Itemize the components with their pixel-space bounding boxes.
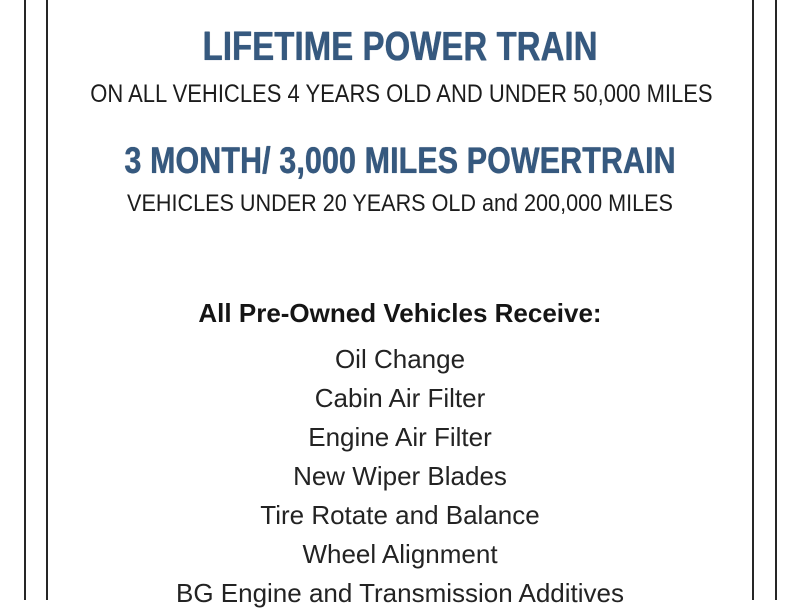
border-rule-right-outer [775,0,777,600]
border-rule-right-inner [752,0,754,600]
list-item: BG Engine and Transmission Additives [48,574,752,613]
list-item: Engine Air Filter [48,418,752,457]
list-item: Oil Change [48,340,752,379]
services-heading: All Pre-Owned Vehicles Receive: [48,300,752,326]
list-item: Cabin Air Filter [48,379,752,418]
border-rule-left-outer [24,0,26,600]
three-month-powertrain-subline: VEHICLES UNDER 20 YEARS OLD and 200,000 … [83,192,717,216]
lifetime-powertrain-subline: ON ALL VEHICLES 4 YEARS OLD AND UNDER 50… [90,82,710,107]
services-section: All Pre-Owned Vehicles Receive: Oil Chan… [48,300,752,613]
three-month-powertrain-headline: 3 MONTH/ 3,000 MILES POWERTRAIN [111,142,688,179]
services-list: Oil Change Cabin Air Filter Engine Air F… [48,340,752,613]
flyer-page: LIFETIME POWER TRAIN ON ALL VEHICLES 4 Y… [0,0,800,600]
lifetime-powertrain-headline: LIFETIME POWER TRAIN [118,26,681,67]
list-item: New Wiper Blades [48,457,752,496]
flyer-content: LIFETIME POWER TRAIN ON ALL VEHICLES 4 Y… [48,0,752,600]
list-item: Wheel Alignment [48,535,752,574]
list-item: Tire Rotate and Balance [48,496,752,535]
